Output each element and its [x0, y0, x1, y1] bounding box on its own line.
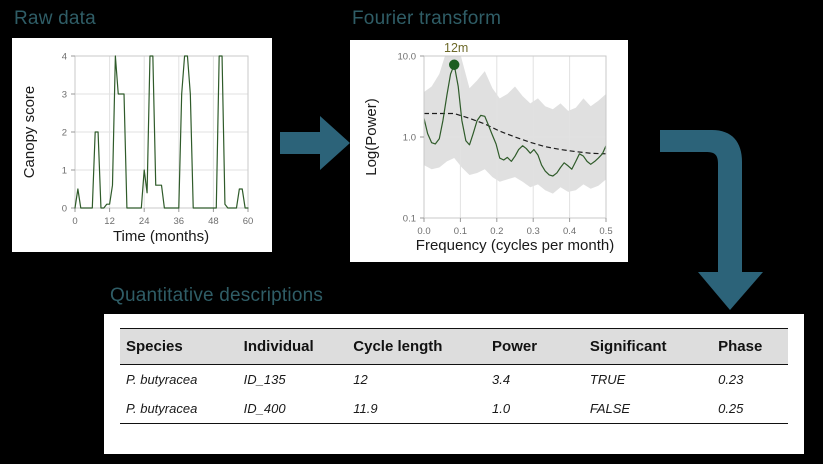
- svg-text:0.0: 0.0: [417, 226, 430, 237]
- arrow-fourier-to-table-icon: [650, 124, 823, 314]
- arrow-raw-to-fourier-icon: [278, 112, 352, 174]
- cell-individual: ID_135: [238, 365, 348, 395]
- svg-text:3: 3: [62, 90, 67, 101]
- results-table-header: Species Individual Cycle length Power Si…: [120, 329, 788, 365]
- fourier-transform-plot: 0.00.10.20.30.40.50.11.010.0 12m Frequen…: [350, 40, 628, 262]
- svg-text:0.4: 0.4: [563, 226, 576, 237]
- cell-power: 3.4: [486, 365, 584, 395]
- svg-text:0.1: 0.1: [403, 214, 416, 225]
- svg-text:48: 48: [208, 216, 219, 227]
- cell-species: P. butyracea: [120, 365, 238, 395]
- svg-text:0.1: 0.1: [454, 226, 467, 237]
- svg-text:4: 4: [62, 52, 67, 63]
- fourier-xlabel: Frequency (cycles per month): [416, 237, 614, 254]
- cell-significant: FALSE: [584, 394, 712, 424]
- column-header-species: Species: [120, 329, 238, 365]
- column-header-significant: Significant: [584, 329, 712, 365]
- section-title-quantitative-descriptions: Quantitative descriptions: [110, 285, 323, 307]
- column-header-cycle-length: Cycle length: [347, 329, 486, 365]
- results-table-body: P. butyracea ID_135 12 3.4 TRUE 0.23 P. …: [120, 365, 788, 424]
- svg-text:24: 24: [139, 216, 150, 227]
- svg-text:0.5: 0.5: [599, 226, 612, 237]
- table-row: P. butyracea ID_135 12 3.4 TRUE 0.23: [120, 365, 788, 395]
- cell-cycle-length: 12: [347, 365, 486, 395]
- svg-text:0.2: 0.2: [490, 226, 503, 237]
- table-header-row: Species Individual Cycle length Power Si…: [120, 329, 788, 365]
- raw-data-panel: 0122436486001234 Time (months) Canopy sc…: [12, 38, 272, 252]
- fourier-peak-annotation: 12m: [444, 41, 468, 55]
- svg-text:1.0: 1.0: [403, 133, 416, 144]
- svg-text:1: 1: [62, 166, 67, 177]
- raw-data-plot: 0122436486001234 Time (months) Canopy sc…: [12, 38, 272, 252]
- raw-data-svg: 0122436486001234 Time (months) Canopy sc…: [12, 38, 272, 252]
- fourier-peak-marker: [449, 60, 459, 70]
- svg-text:2: 2: [62, 128, 67, 139]
- svg-text:36: 36: [174, 216, 185, 227]
- column-header-phase: Phase: [712, 329, 788, 365]
- table-row: P. butyracea ID_400 11.9 1.0 FALSE 0.25: [120, 394, 788, 424]
- section-title-fourier-transform: Fourier transform: [352, 8, 501, 30]
- svg-text:12: 12: [104, 216, 115, 227]
- svg-text:0: 0: [62, 204, 67, 215]
- svg-text:60: 60: [243, 216, 254, 227]
- cell-power: 1.0: [486, 394, 584, 424]
- column-header-individual: Individual: [238, 329, 348, 365]
- cell-phase: 0.23: [712, 365, 788, 395]
- cell-cycle-length: 11.9: [347, 394, 486, 424]
- raw-data-ylabel: Canopy score: [21, 86, 38, 179]
- cell-significant: TRUE: [584, 365, 712, 395]
- fourier-transform-panel: 0.00.10.20.30.40.50.11.010.0 12m Frequen…: [350, 40, 628, 262]
- section-title-raw-data: Raw data: [14, 8, 96, 30]
- results-table-panel: Species Individual Cycle length Power Si…: [104, 314, 804, 454]
- raw-data-xlabel: Time (months): [113, 228, 209, 245]
- cell-individual: ID_400: [238, 394, 348, 424]
- svg-text:10.0: 10.0: [398, 52, 417, 63]
- cell-phase: 0.25: [712, 394, 788, 424]
- cell-species: P. butyracea: [120, 394, 238, 424]
- svg-text:0.3: 0.3: [527, 226, 540, 237]
- fourier-ylabel: Log(Power): [363, 98, 380, 176]
- column-header-power: Power: [486, 329, 584, 365]
- svg-text:0: 0: [72, 216, 77, 227]
- fourier-transform-svg: 0.00.10.20.30.40.50.11.010.0 12m Frequen…: [350, 40, 628, 262]
- results-table: Species Individual Cycle length Power Si…: [120, 328, 788, 424]
